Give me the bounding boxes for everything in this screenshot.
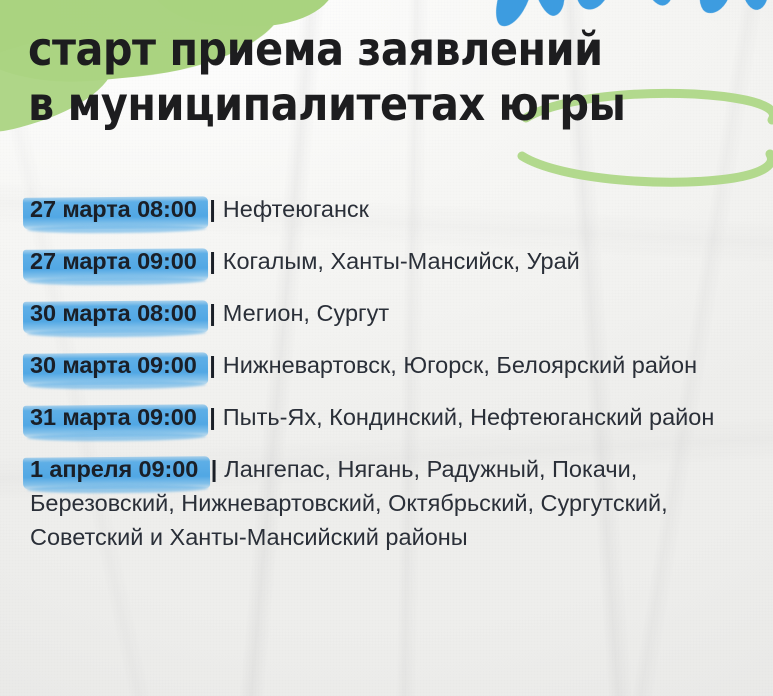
separator-bar: | bbox=[211, 456, 218, 482]
schedule-datetime-highlighted: 27 марта 09:00 bbox=[30, 248, 203, 274]
schedule-datetime: 27 марта 08:00 bbox=[30, 196, 197, 222]
page-title-line-1: старт приема заявлений bbox=[28, 22, 758, 76]
schedule-entry: 1 апреля 09:00 |Лангепас, Нягань, Радужн… bbox=[30, 452, 744, 554]
schedule-datetime: 1 апреля 09:00 bbox=[30, 456, 198, 482]
schedule-entry: 31 марта 09:00 |Пыть-Ях, Кондинский, Неф… bbox=[30, 400, 744, 434]
schedule-locations: Когалым, Ханты-Мансийск, Урай bbox=[223, 248, 580, 274]
poster: старт приема заявлений в муниципалитетах… bbox=[0, 0, 773, 696]
separator-bar: | bbox=[209, 352, 216, 378]
schedule-datetime-highlighted: 1 апреля 09:00 bbox=[30, 456, 205, 482]
schedule-datetime-highlighted: 30 марта 09:00 bbox=[30, 352, 203, 378]
schedule-entry: 30 марта 09:00 |Нижневартовск, Югорск, Б… bbox=[30, 348, 744, 382]
schedule-datetime-highlighted: 30 марта 08:00 bbox=[30, 300, 203, 326]
separator-bar: | bbox=[209, 300, 216, 326]
page-title-line-2: в муниципалитетах югры bbox=[28, 77, 758, 131]
separator-bar: | bbox=[209, 404, 216, 430]
schedule-locations: Пыть-Ях, Кондинский, Нефтеюганский район bbox=[223, 404, 715, 430]
separator-bar: | bbox=[209, 196, 216, 222]
schedule-datetime: 27 марта 09:00 bbox=[30, 248, 197, 274]
page-title: старт приема заявлений в муниципалитетах… bbox=[28, 22, 758, 131]
schedule-entry: 30 марта 08:00 |Мегион, Сургут bbox=[30, 296, 744, 330]
schedule-datetime: 30 марта 09:00 bbox=[30, 352, 197, 378]
schedule-datetime-highlighted: 31 марта 09:00 bbox=[30, 404, 203, 430]
schedule-locations: Нефтеюганск bbox=[223, 196, 369, 222]
schedule-entry: 27 марта 08:00 |Нефтеюганск bbox=[30, 192, 744, 226]
schedule-list: 27 марта 08:00 |Нефтеюганск 27 марта 09:… bbox=[30, 192, 744, 554]
schedule-datetime: 30 марта 08:00 bbox=[30, 300, 197, 326]
schedule-datetime-highlighted: 27 марта 08:00 bbox=[30, 196, 203, 222]
schedule-datetime: 31 марта 09:00 bbox=[30, 404, 197, 430]
schedule-locations: Нижневартовск, Югорск, Белоярский район bbox=[223, 352, 697, 378]
schedule-entry: 27 марта 09:00 |Когалым, Ханты-Мансийск,… bbox=[30, 244, 744, 278]
schedule-locations: Мегион, Сургут bbox=[223, 300, 389, 326]
separator-bar: | bbox=[209, 248, 216, 274]
